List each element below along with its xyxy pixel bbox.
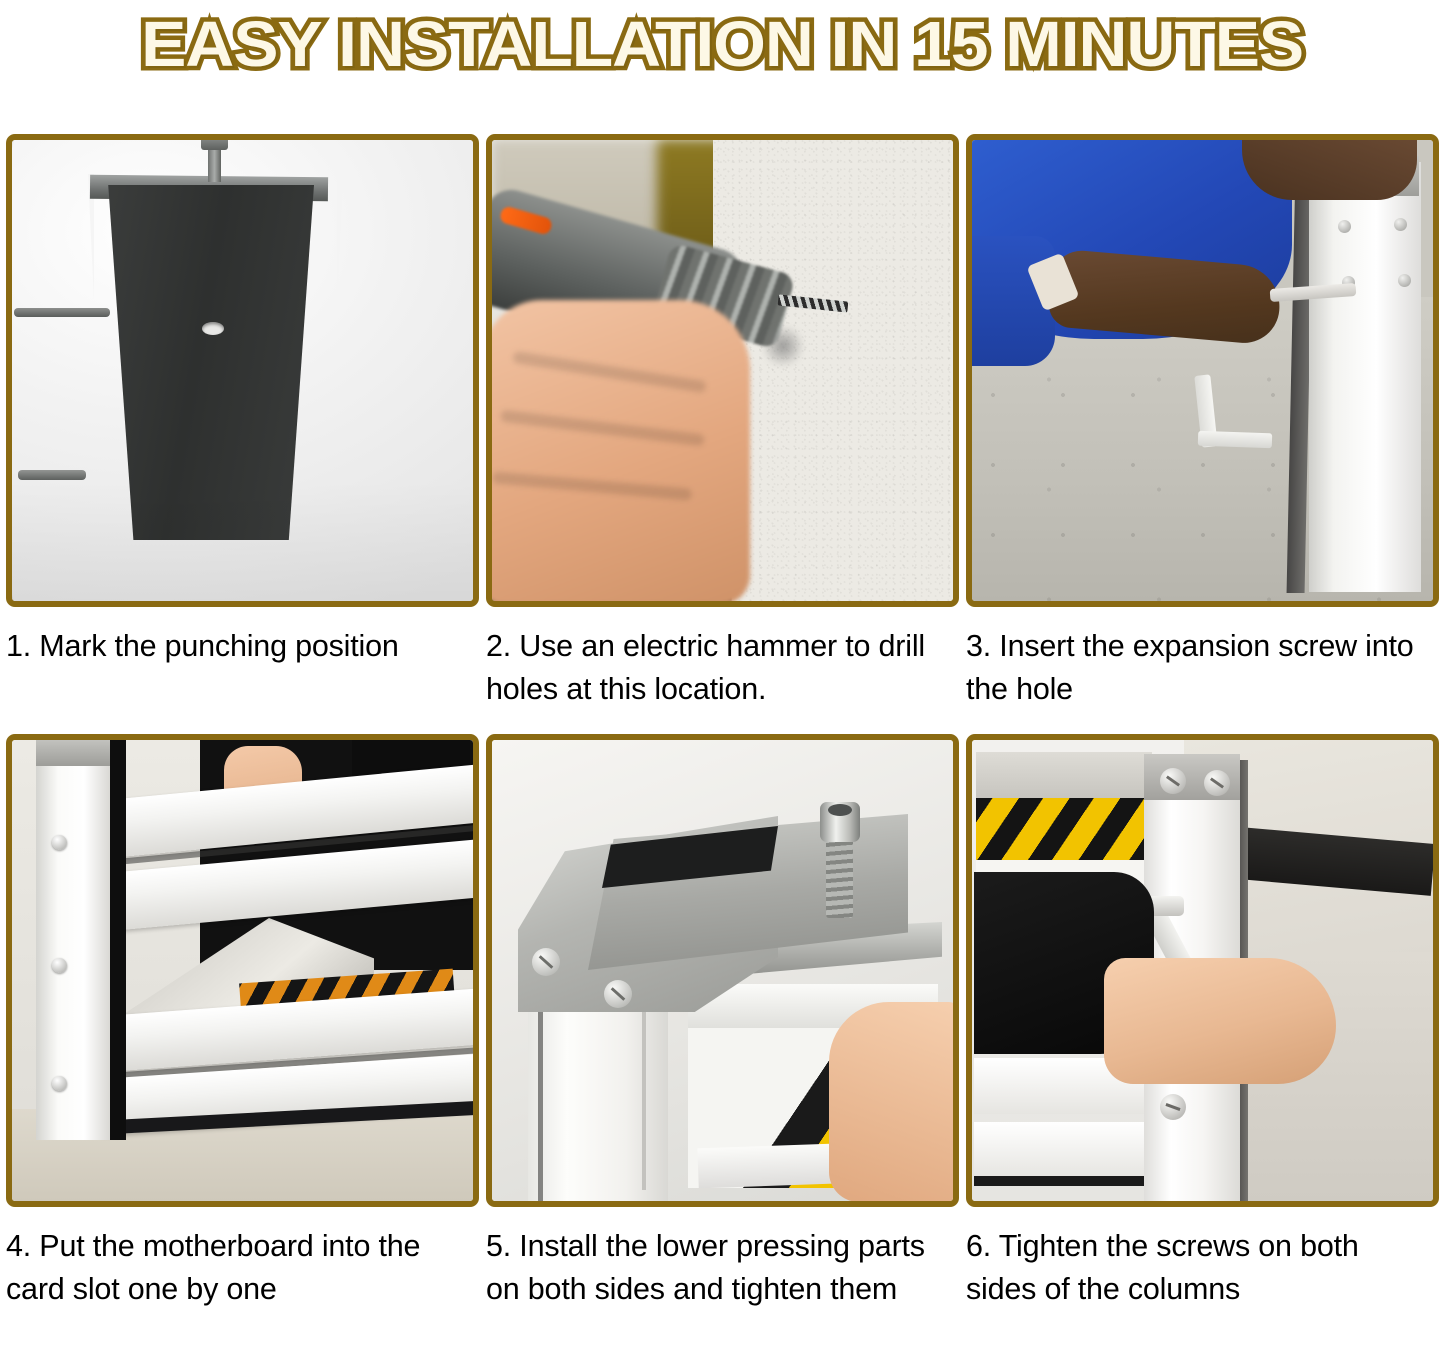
step-photo-frame-6 [966, 734, 1439, 1207]
post-cap [36, 740, 110, 766]
column-screw-1 [1160, 768, 1186, 794]
marking-hole-upper [202, 322, 224, 335]
post-slot-gap [110, 740, 126, 1140]
slotted-post [36, 740, 110, 1140]
step-photo-frame-5 [486, 734, 959, 1207]
top-stud-cap [201, 140, 228, 150]
step-photo-frame-2 [486, 134, 959, 607]
step-photo-3 [972, 140, 1433, 601]
bolt-socket-hole [828, 804, 852, 816]
step-photo-5 [492, 740, 953, 1201]
drill-dust [760, 326, 806, 366]
hazard-stripe [976, 798, 1152, 862]
bracket-screw-2 [604, 980, 632, 1008]
thumb-bolt [820, 802, 860, 920]
hand [492, 300, 750, 601]
step-card-6: 6. Tighten the screws on both sides of t… [966, 734, 1439, 1346]
step-card-2: 2. Use an electric hammer to drill holes… [486, 134, 959, 734]
step-photo-frame-3 [966, 134, 1439, 607]
step-caption-4: 4. Put the motherboard into the card slo… [6, 1225, 458, 1312]
side-pin-upper [14, 308, 110, 317]
bolt-thread [826, 838, 853, 918]
side-pin-lower [18, 470, 86, 480]
step-card-1: 1. Mark the punching position [6, 134, 479, 734]
step-caption-5: 5. Install the lower pressing parts on b… [486, 1225, 936, 1312]
step-card-5: 5. Install the lower pressing parts on b… [486, 734, 959, 1346]
header-banner: EASY INSTALLATION IN 15 MINUTES [0, 0, 1445, 88]
post-screw-2 [1394, 218, 1407, 231]
step-photo-frame-1 [6, 134, 479, 607]
column-screw-lower [1160, 1094, 1186, 1120]
top-rail [976, 752, 1152, 798]
hand [829, 1002, 953, 1201]
step-photo-2 [492, 140, 953, 601]
hand [1104, 958, 1336, 1084]
bracket-screw-1 [532, 948, 560, 976]
step-caption-3: 3. Insert the expansion screw into the h… [966, 625, 1418, 712]
base-seal [974, 1176, 1146, 1186]
step-card-4: 4. Put the motherboard into the card slo… [6, 734, 479, 1346]
post-screw-4 [1398, 274, 1411, 287]
floor-shadow [12, 481, 473, 601]
post-screw-1 [52, 835, 67, 850]
column-screw-2 [1204, 770, 1230, 796]
step-photo-6 [972, 740, 1433, 1201]
step-photo-1 [12, 140, 473, 601]
post-screw-3 [52, 1076, 67, 1091]
post-screw-2 [52, 958, 67, 973]
step-photo-frame-4 [6, 734, 479, 1207]
step-card-3: 3. Insert the expansion screw into the h… [966, 134, 1439, 734]
barrier-board-2 [974, 1122, 1146, 1178]
step-caption-1: 1. Mark the punching position [6, 625, 458, 668]
upper-hand [1242, 140, 1417, 200]
step-caption-2: 2. Use an electric hammer to drill holes… [486, 625, 936, 712]
allen-key-arm [1198, 431, 1272, 449]
step-photo-4 [12, 740, 473, 1201]
step-caption-6: 6. Tighten the screws on both sides of t… [966, 1225, 1418, 1312]
page-title: EASY INSTALLATION IN 15 MINUTES [142, 12, 1304, 76]
installation-steps-grid: 1. Mark the punching position 2. Use [6, 134, 1439, 1346]
post-screw-1 [1338, 220, 1351, 233]
